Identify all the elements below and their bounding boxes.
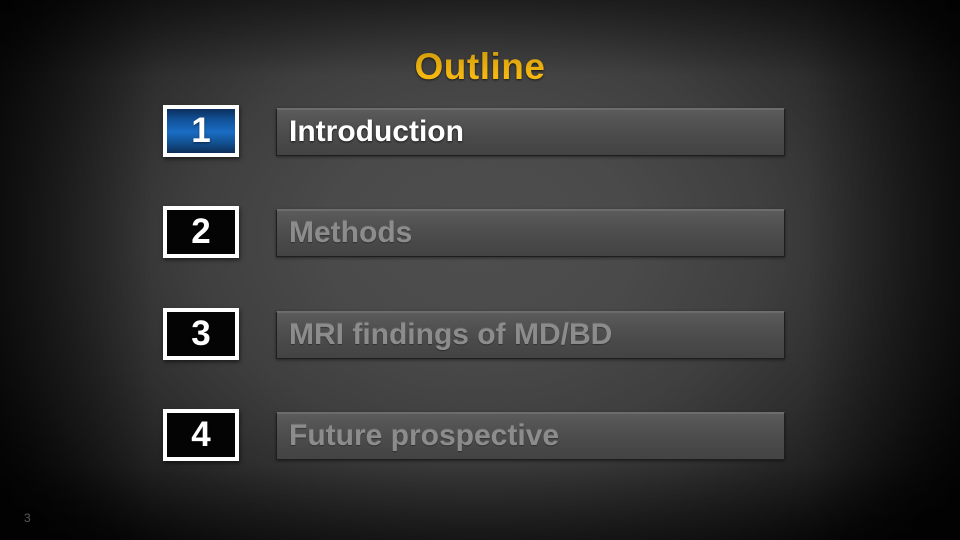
slide-page-number: 3 (24, 511, 31, 525)
outline-item-label-4: Future prospective (277, 421, 559, 451)
outline-number-label-1: 1 (191, 113, 210, 148)
outline-item-bar-4[interactable]: Future prospective (276, 412, 785, 460)
outline-number-box-3[interactable]: 3 (163, 308, 239, 360)
slide-title: Outline (0, 46, 960, 88)
outline-row-2[interactable]: 2 Methods (0, 206, 960, 266)
outline-item-label-3: MRI findings of MD/BD (277, 320, 612, 350)
outline-number-label-2: 2 (191, 214, 210, 249)
outline-number-label-3: 3 (191, 316, 210, 351)
outline-number-label-4: 4 (191, 417, 210, 452)
outline-item-bar-2[interactable]: Methods (276, 209, 785, 257)
outline-number-box-1[interactable]: 1 (163, 105, 239, 157)
outline-row-4[interactable]: 4 Future prospective (0, 409, 960, 469)
outline-number-box-4[interactable]: 4 (163, 409, 239, 461)
outline-item-label-1: Introduction (277, 117, 464, 147)
outline-item-bar-3[interactable]: MRI findings of MD/BD (276, 311, 785, 359)
outline-row-3[interactable]: 3 MRI findings of MD/BD (0, 308, 960, 368)
presentation-slide: Outline 1 Introduction 2 Methods 3 MRI f… (0, 0, 960, 540)
outline-row-1[interactable]: 1 Introduction (0, 105, 960, 165)
outline-item-label-2: Methods (277, 218, 412, 248)
outline-number-box-2[interactable]: 2 (163, 206, 239, 258)
outline-item-bar-1[interactable]: Introduction (276, 108, 785, 156)
